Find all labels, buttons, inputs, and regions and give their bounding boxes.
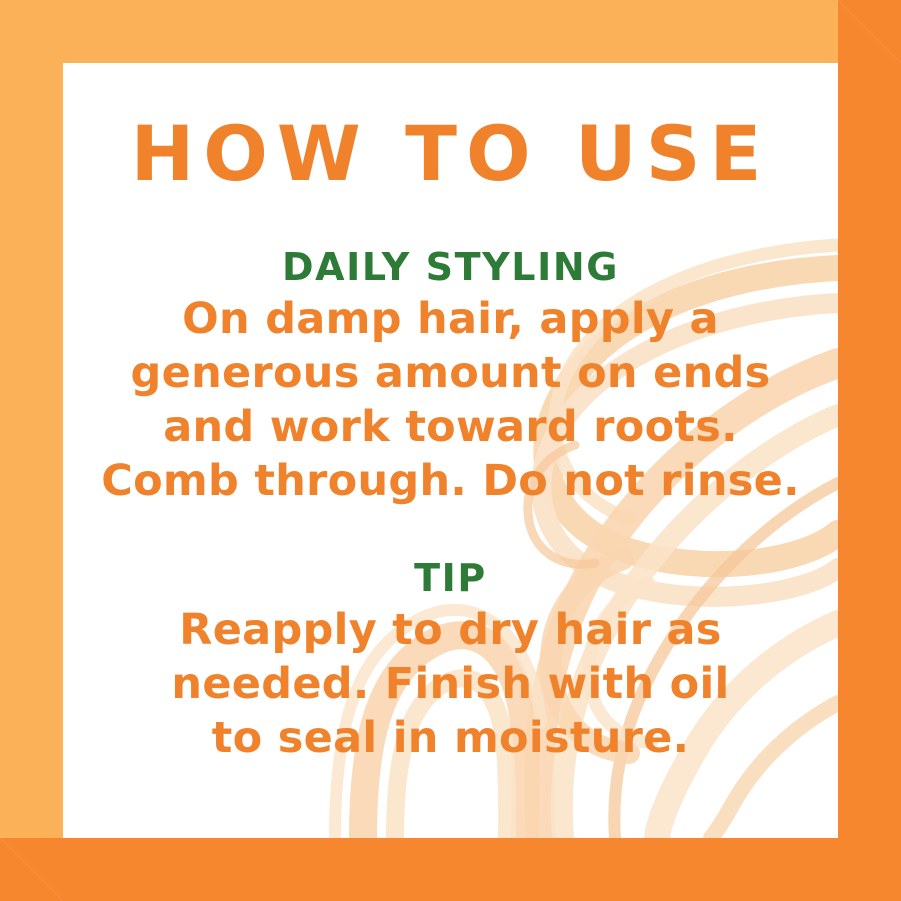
section-line: generous amount on ends — [63, 346, 838, 400]
how-to-use-card: HOW TO USE DAILY STYLING On damp hair, a… — [0, 0, 901, 901]
section-line: Comb through. Do not rinse. — [63, 454, 838, 508]
section-heading-daily-styling: DAILY STYLING — [63, 248, 838, 286]
section-line: Reapply to dry hair as — [63, 603, 838, 657]
section-line: On damp hair, apply a — [63, 292, 838, 346]
panel-content: HOW TO USE DAILY STYLING On damp hair, a… — [63, 63, 838, 838]
page-title: HOW TO USE — [63, 116, 838, 192]
inner-panel: HOW TO USE DAILY STYLING On damp hair, a… — [63, 63, 838, 838]
section-tip: TIP Reapply to dry hair as needed. Finis… — [63, 559, 838, 765]
section-line: and work toward roots. — [63, 400, 838, 454]
section-daily-styling: DAILY STYLING On damp hair, apply a gene… — [63, 248, 838, 508]
section-heading-tip: TIP — [63, 559, 838, 597]
section-line: to seal in moisture. — [63, 711, 838, 765]
section-line: needed. Finish with oil — [63, 657, 838, 711]
